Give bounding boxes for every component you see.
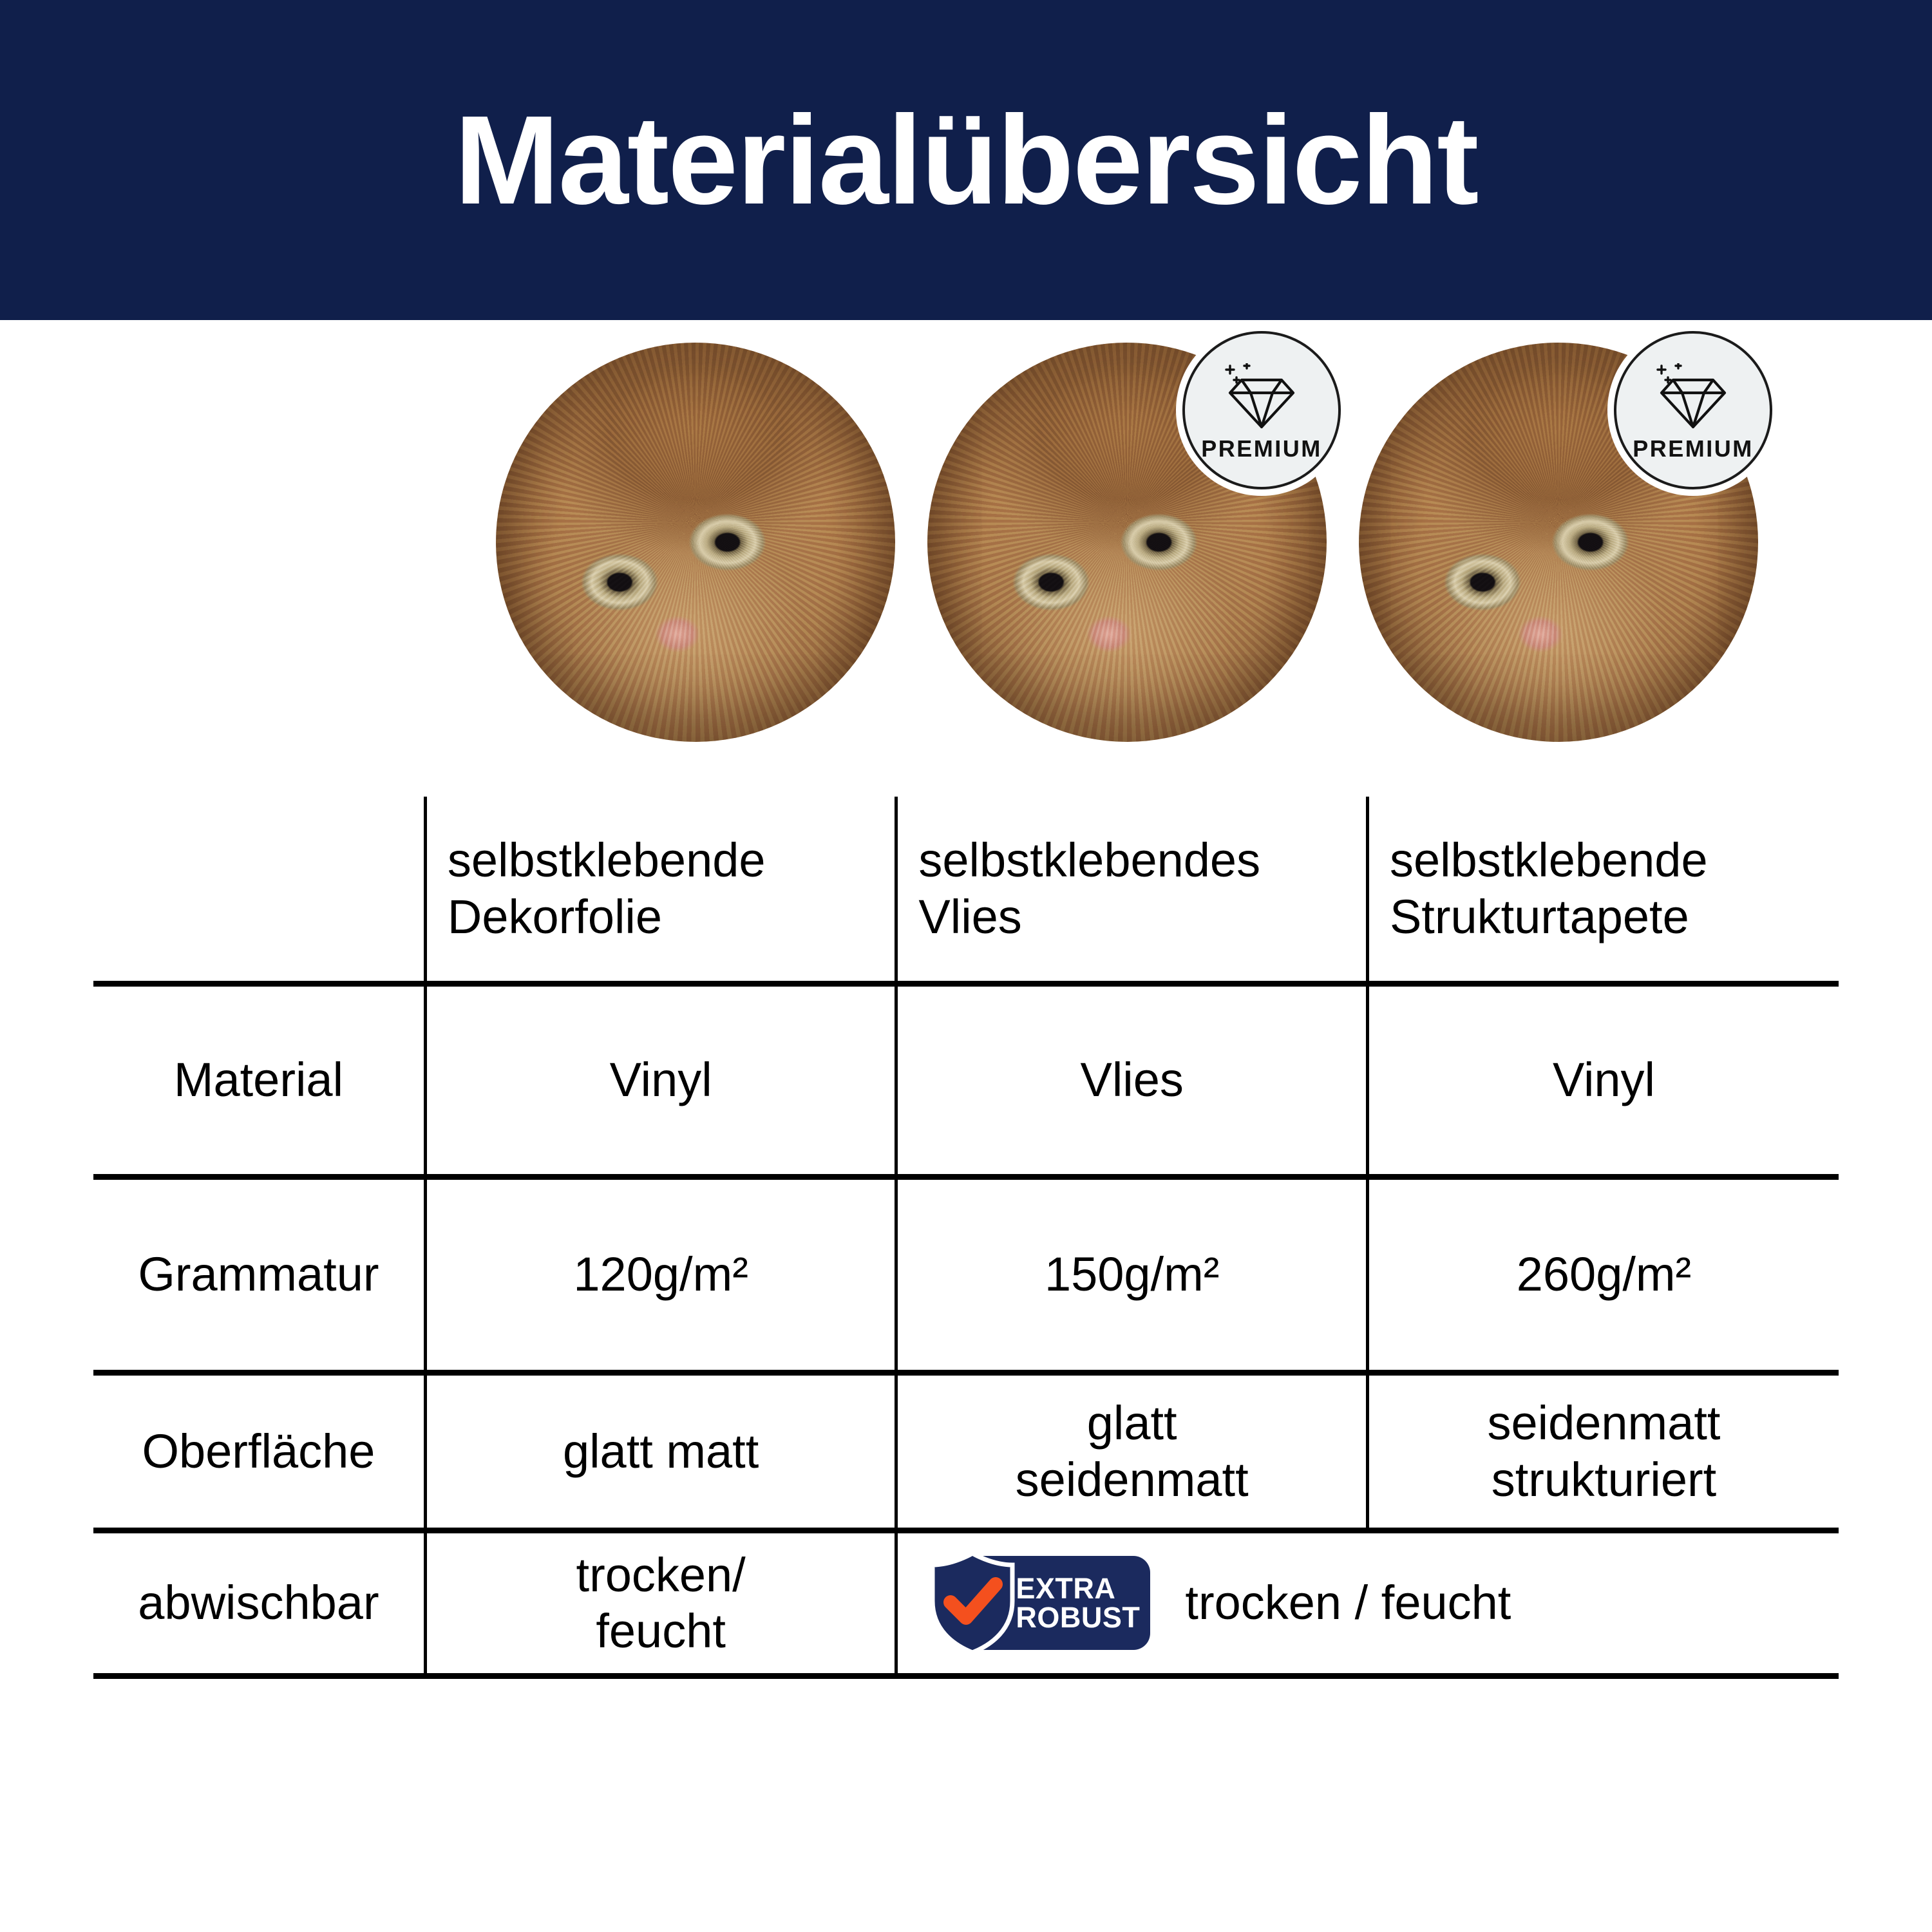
premium-badge-label: PREMIUM — [1633, 435, 1754, 462]
cell-grammatur-vlies: 150g/m² — [896, 1177, 1368, 1372]
cell-material-vlies: Vlies — [896, 983, 1368, 1177]
premium-badge-3: PREMIUM — [1614, 331, 1772, 489]
cell-line-2: seidenmatt — [907, 1452, 1357, 1508]
table-body: Material Vinyl Vlies Vinyl Grammatur 120… — [93, 983, 1839, 1676]
cell-abwischbar-merged: EXTRA ROBUST trocken / feucht — [896, 1530, 1839, 1676]
cell-line-2: feucht — [436, 1603, 886, 1659]
sample-image-3[interactable]: PREMIUM — [1359, 343, 1758, 742]
premium-badge-2: PREMIUM — [1182, 331, 1341, 489]
material-comparison-table: selbstklebende Dekorfolie selbstklebende… — [0, 797, 1932, 1679]
merged-cell-text: trocken / feucht — [1185, 1575, 1511, 1631]
table-row: Material Vinyl Vlies Vinyl — [93, 983, 1839, 1177]
page-title: Materialübersicht — [455, 97, 1478, 223]
column-header-dekorfolie: selbstklebende Dekorfolie — [425, 797, 896, 983]
cell-grammatur-strukturtapete: 260g/m² — [1367, 1177, 1839, 1372]
comparison-table: selbstklebende Dekorfolie selbstklebende… — [93, 797, 1839, 1679]
extra-robust-badge: EXTRA ROBUST — [927, 1556, 1150, 1650]
column-header-blank — [93, 797, 425, 983]
row-label-material: Material — [93, 983, 425, 1177]
row-label-grammatur: Grammatur — [93, 1177, 425, 1372]
sample-image-2[interactable]: PREMIUM — [927, 343, 1327, 742]
cell-oberflaeche-strukturtapete: seidenmatt strukturiert — [1367, 1372, 1839, 1530]
cell-line-1: glatt — [907, 1395, 1357, 1451]
shield-check-icon — [927, 1551, 1018, 1655]
cell-line-1: trocken/ — [436, 1547, 886, 1603]
sample-image-strip: PREMIUM PREMIUM — [0, 320, 1932, 797]
column-header-vlies: selbstklebendes Vlies — [896, 797, 1368, 983]
diamond-icon — [1655, 363, 1731, 430]
row-label-oberflaeche: Oberfläche — [93, 1372, 425, 1530]
table-header: selbstklebende Dekorfolie selbstklebende… — [93, 797, 1839, 983]
cell-oberflaeche-vlies: glatt seidenmatt — [896, 1372, 1368, 1530]
cat-photo-circle-1 — [496, 343, 895, 742]
robust-label-line1: EXTRA — [1016, 1574, 1115, 1603]
robust-label-line2: ROBUST — [1016, 1603, 1140, 1632]
header-banner: Materialübersicht — [0, 0, 1932, 320]
cell-abwischbar-dekorfolie: trocken/ feucht — [425, 1530, 896, 1676]
diamond-icon — [1224, 363, 1300, 430]
cell-grammatur-dekorfolie: 120g/m² — [425, 1177, 896, 1372]
table-row: Oberfläche glatt matt glatt seidenmatt s… — [93, 1372, 1839, 1530]
row-label-abwischbar: abwischbar — [93, 1530, 425, 1676]
cell-material-strukturtapete: Vinyl — [1367, 983, 1839, 1177]
cell-material-dekorfolie: Vinyl — [425, 983, 896, 1177]
column-header-strukturtapete: selbstklebende Strukturtapete — [1367, 797, 1839, 983]
premium-badge-label: PREMIUM — [1201, 435, 1322, 462]
cell-line-2: strukturiert — [1378, 1452, 1830, 1508]
cell-line-1: seidenmatt — [1378, 1395, 1830, 1451]
cell-oberflaeche-dekorfolie: glatt matt — [425, 1372, 896, 1530]
table-row: abwischbar trocken/ feucht EXTRA ROBUST — [93, 1530, 1839, 1676]
sample-image-1[interactable] — [496, 343, 895, 742]
table-row: Grammatur 120g/m² 150g/m² 260g/m² — [93, 1177, 1839, 1372]
table-header-row: selbstklebende Dekorfolie selbstklebende… — [93, 797, 1839, 983]
